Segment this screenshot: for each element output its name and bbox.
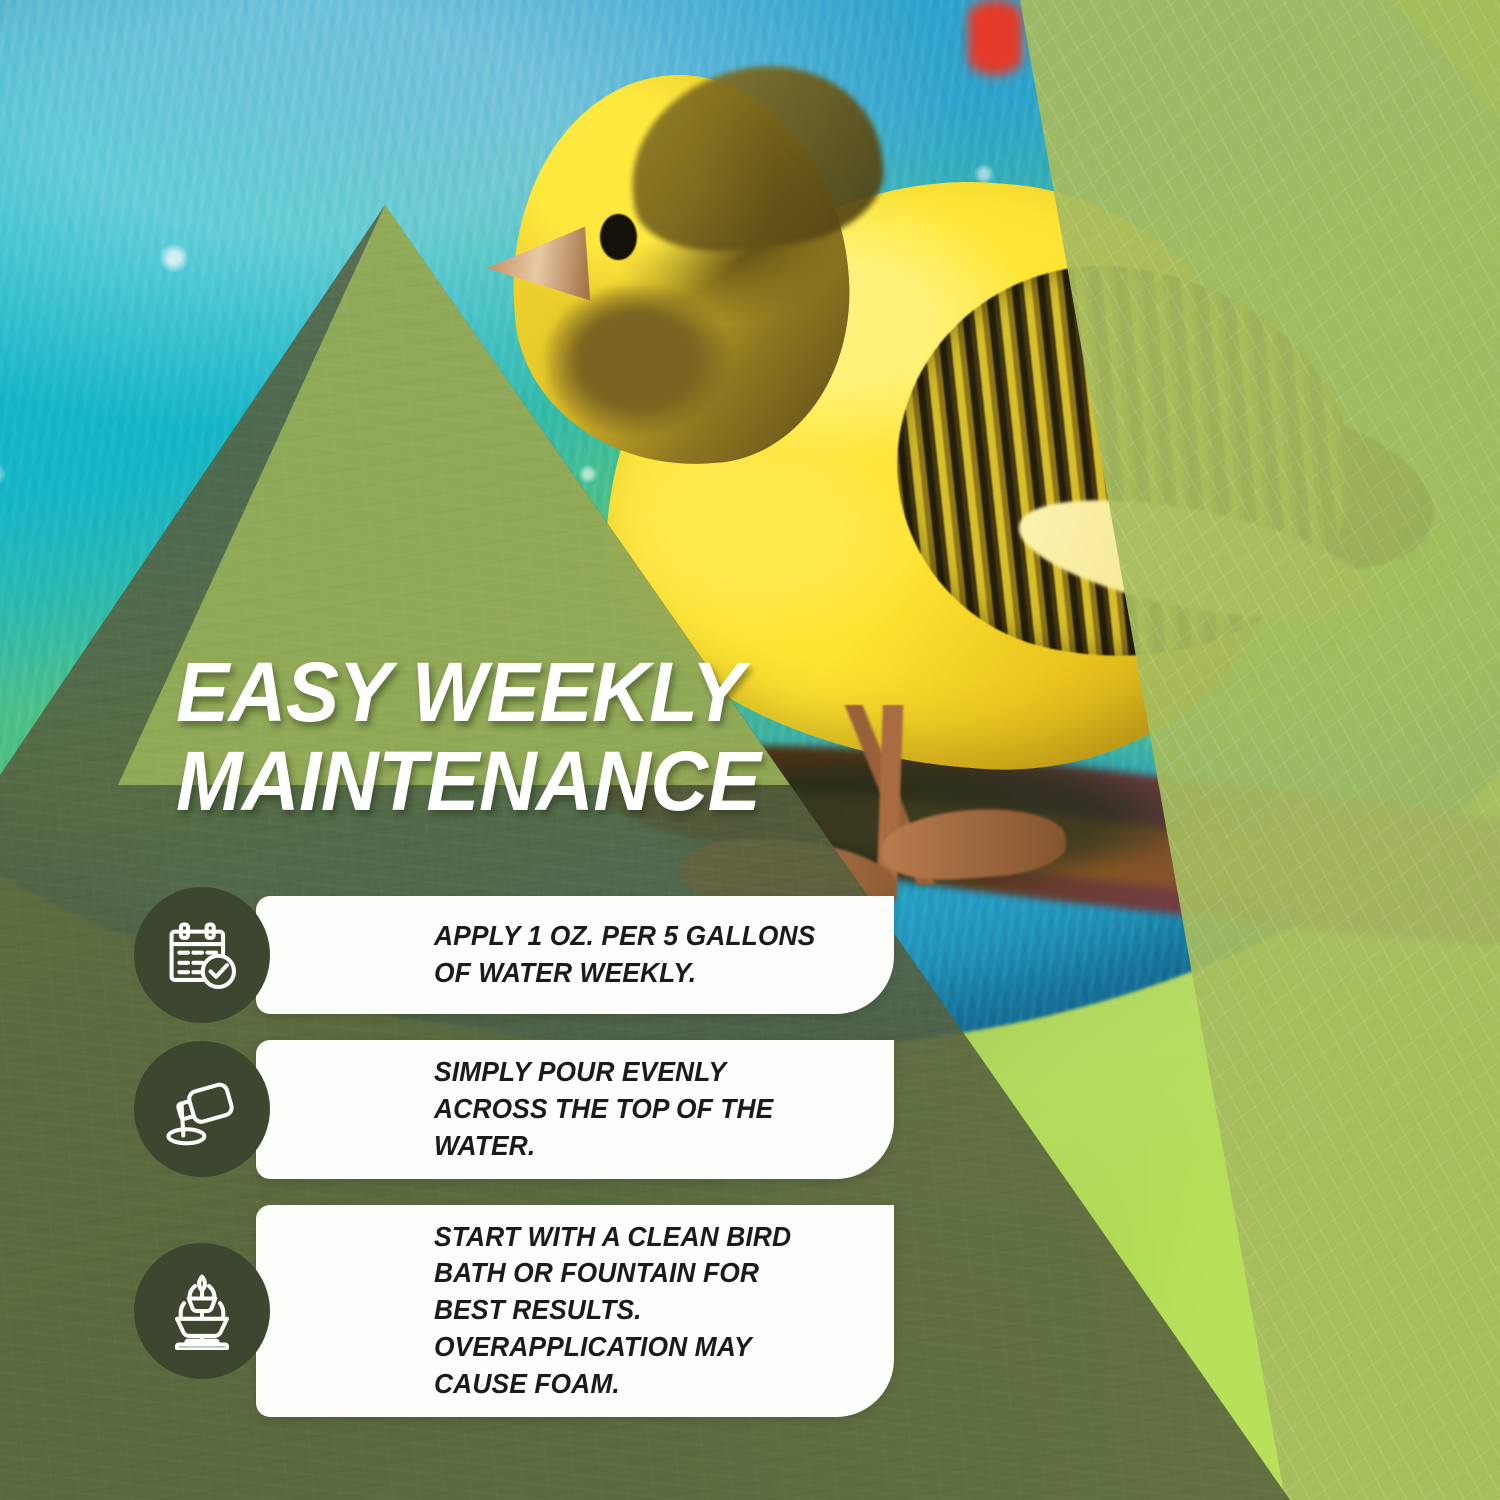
instruction-text: APPLY 1 OZ. PER 5 GALLONS OF WATER WEEKL… [434, 918, 824, 992]
list-item: START WITH A CLEAN BIRD BATH OR FOUNTAIN… [134, 1205, 894, 1417]
instruction-badge-dosage [134, 887, 270, 1023]
instruction-badge-application [134, 1041, 270, 1177]
fountain-icon [163, 1272, 241, 1350]
instruction-pill-dosage: APPLY 1 OZ. PER 5 GALLONS OF WATER WEEKL… [256, 896, 894, 1014]
instruction-text: SIMPLY POUR EVENLY ACROSS THE TOP OF THE… [434, 1054, 824, 1165]
page-title: EASY WEEKLYMAINTENANCE [176, 648, 898, 826]
content-layer: EASY WEEKLYMAINTENANCE APPLY 1 OZ. PER 5… [0, 0, 1500, 1500]
instruction-pill-preparation: START WITH A CLEAN BIRD BATH OR FOUNTAIN… [256, 1205, 894, 1417]
headline-line-1: EASY WEEKLY [176, 645, 744, 739]
instruction-text: START WITH A CLEAN BIRD BATH OR FOUNTAIN… [434, 1219, 824, 1403]
instruction-pill-application: SIMPLY POUR EVENLY ACROSS THE TOP OF THE… [256, 1040, 894, 1179]
instruction-badge-preparation [134, 1243, 270, 1379]
calendar-check-icon [163, 916, 241, 994]
pouring-bottle-icon [163, 1070, 241, 1148]
list-item: SIMPLY POUR EVENLY ACROSS THE TOP OF THE… [134, 1040, 894, 1179]
instruction-list: APPLY 1 OZ. PER 5 GALLONS OF WATER WEEKL… [134, 896, 894, 1443]
headline-line-2: MAINTENANCE [176, 734, 760, 828]
list-item: APPLY 1 OZ. PER 5 GALLONS OF WATER WEEKL… [134, 896, 894, 1014]
product-feature-image: EASY WEEKLYMAINTENANCE APPLY 1 OZ. PER 5… [0, 0, 1500, 1500]
